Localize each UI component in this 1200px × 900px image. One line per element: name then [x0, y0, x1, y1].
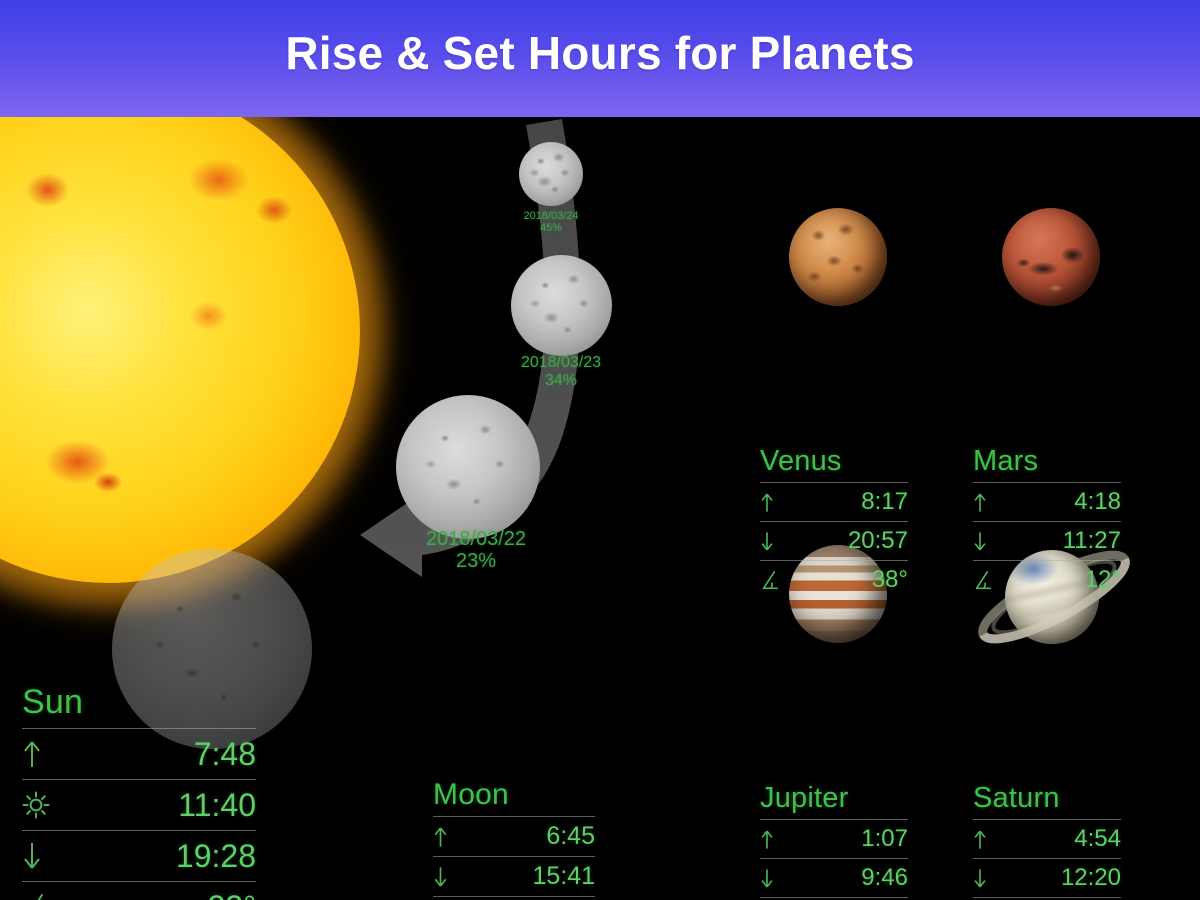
panel-jupiter-title: Jupiter [760, 782, 908, 815]
sun-row-culmination: 11:40 [22, 779, 256, 830]
arrow-up-icon [973, 492, 1003, 513]
arrow-down-icon [973, 531, 1003, 552]
sky-stage: 2018/03/24 45% 2018/03/23 34% 2018/03/22… [0, 117, 1200, 900]
venus-row-rise: 8:17 [760, 482, 908, 521]
sun-row-altitude: 33° [22, 881, 256, 900]
mars-row-rise: 4:18 [973, 482, 1121, 521]
mars-altitude-value: 12° [1003, 566, 1121, 594]
panel-sun: Sun 7:48 [22, 683, 256, 900]
saturn-rise-value: 4:54 [1003, 825, 1121, 853]
sun-graphic[interactable] [0, 117, 360, 583]
moon-phase-sprite-1[interactable] [511, 255, 612, 356]
jupiter-row-rise: 1:07 [760, 819, 908, 858]
panel-mars-title: Mars [973, 445, 1121, 478]
moon-phase-sprite-0[interactable] [519, 142, 583, 206]
app-root: Rise & Set Hours for Planets 2018/03/24 … [0, 0, 1200, 900]
venus-set-value: 20:57 [790, 527, 908, 555]
arrow-down-icon [760, 531, 790, 552]
panel-sun-title: Sun [22, 683, 256, 722]
altitude-icon [760, 570, 790, 591]
moon-phase-label-2: 2018/03/22 23% [401, 528, 551, 573]
saturn-row-rise: 4:54 [973, 819, 1121, 858]
moon-phase-date-0: 2018/03/24 [486, 210, 616, 222]
mars-rise-value: 4:18 [1003, 488, 1121, 516]
panel-venus-title: Venus [760, 445, 908, 478]
arrow-up-icon [433, 826, 465, 848]
panel-jupiter: Jupiter 1:07 9:46 [760, 782, 908, 900]
header-bar: Rise & Set Hours for Planets [0, 0, 1200, 117]
moon-phase-illumination-2: 23% [401, 550, 551, 572]
page-title: Rise & Set Hours for Planets [0, 26, 1200, 80]
arrow-down-icon [760, 868, 790, 889]
panel-venus: Venus 8:17 20:57 [760, 445, 908, 599]
moon-phase-illumination-1: 34% [496, 372, 626, 390]
arrow-up-icon [760, 492, 790, 513]
arrow-down-icon [22, 842, 66, 870]
arrow-up-icon [22, 740, 66, 768]
sun-culmination-value: 11:40 [66, 787, 256, 824]
panel-saturn-rows: 4:54 12:20 [973, 819, 1121, 900]
saturn-set-value: 12:20 [1003, 864, 1121, 892]
panel-saturn: Saturn 4:54 12:20 [973, 782, 1121, 900]
moon-phase-illumination-0: 45% [486, 222, 616, 234]
moon-set-value: 15:41 [465, 862, 595, 891]
panel-sun-rows: 7:48 11:40 [22, 728, 256, 900]
panel-moon: Moon 6:45 15:41 [433, 778, 595, 900]
sun-icon [22, 791, 66, 819]
arrow-down-icon [433, 866, 465, 888]
moon-row-rise: 6:45 [433, 816, 595, 856]
moon-phase-sprite-2[interactable] [396, 395, 540, 539]
sun-rise-value: 7:48 [66, 736, 256, 773]
sun-altitude-value: 33° [66, 889, 256, 900]
sun-row-set: 19:28 [22, 830, 256, 881]
moon-phase-label-0: 2018/03/24 45% [486, 210, 616, 235]
panel-moon-rows: 6:45 15:41 [433, 816, 595, 900]
panel-saturn-title: Saturn [973, 782, 1121, 815]
panel-mars-rows: 4:18 11:27 [973, 482, 1121, 599]
moon-rise-value: 6:45 [465, 822, 595, 851]
sun-set-value: 19:28 [66, 838, 256, 875]
venus-row-set: 20:57 [760, 521, 908, 560]
jupiter-row-set: 9:46 [760, 858, 908, 897]
panel-jupiter-rows: 1:07 9:46 [760, 819, 908, 900]
venus-altitude-value: 38° [790, 566, 908, 594]
saturn-row-set: 12:20 [973, 858, 1121, 897]
sun-row-rise: 7:48 [22, 728, 256, 779]
arrow-down-icon [973, 868, 1003, 889]
moon-phase-date-1: 2018/03/23 [496, 354, 626, 372]
mars-row-altitude: 12° [973, 560, 1121, 599]
venus-rise-value: 8:17 [790, 488, 908, 516]
panel-moon-title: Moon [433, 778, 595, 812]
moon-phase-label-1: 2018/03/23 34% [496, 354, 626, 390]
arrow-up-icon [973, 829, 1003, 850]
mars-sprite[interactable] [1002, 208, 1100, 306]
arrow-up-icon [760, 829, 790, 850]
jupiter-set-value: 9:46 [790, 864, 908, 892]
moon-row-altitude: 18° [433, 896, 595, 900]
altitude-icon [973, 570, 1003, 591]
mars-set-value: 11:27 [1003, 527, 1121, 555]
venus-row-altitude: 38° [760, 560, 908, 599]
moon-phase-date-2: 2018/03/22 [401, 528, 551, 550]
mars-row-set: 11:27 [973, 521, 1121, 560]
panel-venus-rows: 8:17 20:57 [760, 482, 908, 599]
altitude-icon [22, 893, 66, 900]
venus-sprite[interactable] [789, 208, 887, 306]
jupiter-rise-value: 1:07 [790, 825, 908, 853]
panel-mars: Mars 4:18 11:27 [973, 445, 1121, 599]
moon-row-set: 15:41 [433, 856, 595, 896]
